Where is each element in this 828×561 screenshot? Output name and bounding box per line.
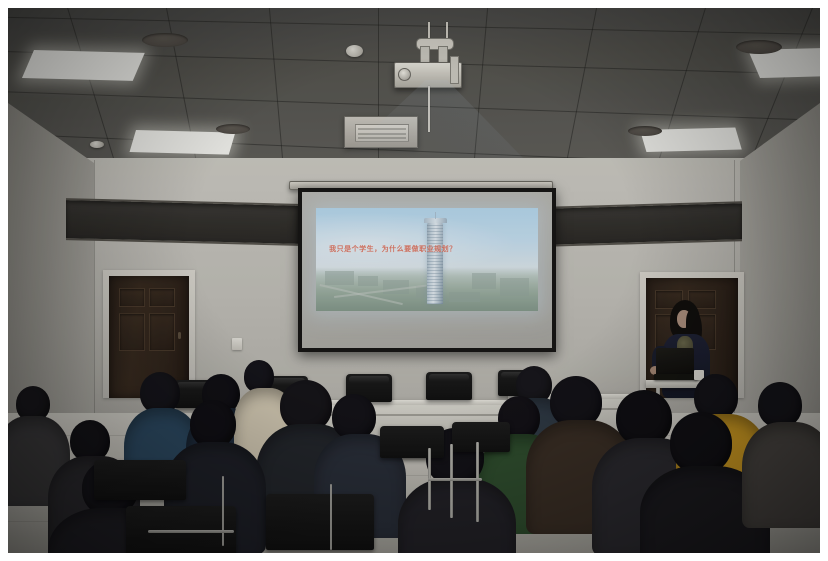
door-handle-left[interactable] (178, 332, 181, 339)
chair-rail-1 (428, 478, 482, 481)
foreground-chair-2[interactable] (266, 494, 374, 550)
projection-screen[interactable]: 我只是个学生，为什么要做职业规划？ (298, 188, 556, 352)
wall-light-switch[interactable] (232, 338, 242, 350)
photo-frame: 我只是个学生，为什么要做职业规划？ (0, 0, 828, 561)
round-air-vent-2 (216, 124, 250, 134)
laptop[interactable] (656, 348, 694, 376)
ceiling-light-panel-2 (130, 130, 236, 155)
ac-grille (355, 124, 409, 143)
round-air-vent-3 (736, 40, 782, 54)
blackboard-band-right (546, 201, 742, 246)
projector-bracket (450, 56, 459, 84)
slide-headline: 我只是个学生，为什么要做职业规划？ (329, 244, 457, 254)
mid-chair-1[interactable] (380, 426, 444, 458)
empty-chair-3[interactable] (426, 372, 472, 400)
round-air-vent-4 (628, 126, 662, 136)
projected-slide: 我只是个学生，为什么要做职业规划？ (316, 208, 539, 311)
chair-leg-5 (330, 484, 332, 550)
screen-surface: 我只是个学生，为什么要做职业规划？ (302, 192, 552, 348)
projector-drop-rod (428, 86, 430, 132)
lecture-hall-scene: 我只是个学生，为什么要做职业规划？ (8, 8, 820, 553)
smoke-detector-2 (346, 45, 363, 57)
chair-leg-4 (222, 476, 224, 546)
slide-tower (427, 222, 443, 304)
chair-leg-1 (450, 444, 453, 518)
cassette-air-conditioner (344, 116, 418, 148)
projector-lens (398, 68, 411, 81)
chair-leg-2 (476, 442, 479, 522)
blackboard-band-left (66, 198, 298, 246)
laptop-keyboard[interactable] (654, 374, 698, 380)
mid-chair-2[interactable] (452, 422, 510, 452)
foreground-chair-3[interactable] (94, 460, 186, 500)
ceiling-light-panel-1 (22, 50, 145, 81)
chair-rail-2 (148, 530, 234, 533)
round-air-vent-1 (142, 33, 188, 47)
smoke-detector-1 (90, 141, 104, 148)
